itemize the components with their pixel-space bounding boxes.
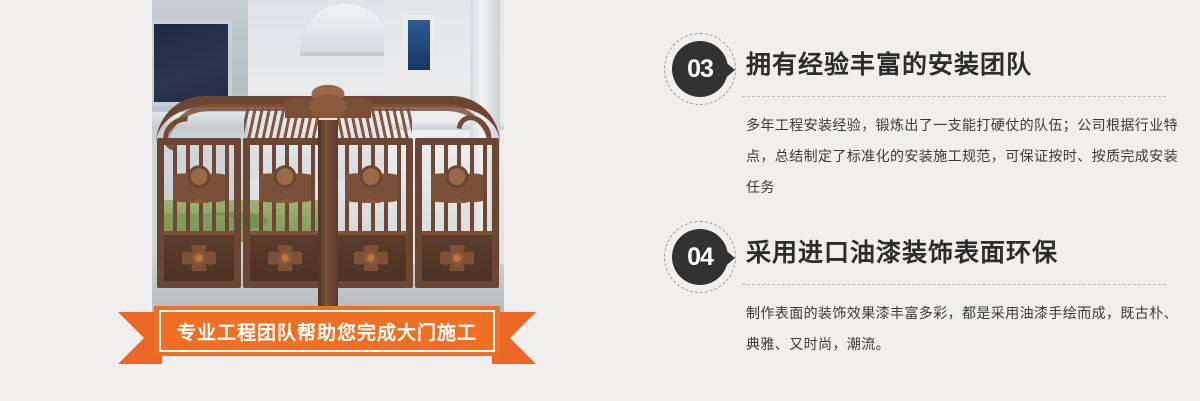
ribbon-band: 专业工程团队帮助您完成大门施工 xyxy=(154,306,500,356)
feature-item-04: 04 采用进口油漆装饰表面环保 制作表面的装饰效果漆丰富多彩，都是采用油漆手绘而… xyxy=(600,218,1200,296)
feature-item-03: 03 拥有经验丰富的安装团队 多年工程安装经验，锻炼出了一支能打硬仗的队伍；公司… xyxy=(600,30,1200,108)
badge-number: 03 xyxy=(672,41,728,97)
leaf-medallion xyxy=(259,163,311,203)
feature-title: 拥有经验丰富的安装团队 xyxy=(746,45,1032,81)
promo-image-column: 专业工程团队帮助您完成大门施工 xyxy=(0,0,600,401)
leaf-panel xyxy=(164,231,234,281)
leaf-medallion xyxy=(345,163,397,203)
gate-center-post xyxy=(318,120,338,312)
feature-title: 采用进口油漆装饰表面环保 xyxy=(746,233,1058,269)
feature-list: 03 拥有经验丰富的安装团队 多年工程安装经验，锻炼出了一支能打硬仗的队伍；公司… xyxy=(600,0,1200,401)
feature-description: 制作表面的装饰效果漆丰富多彩，都是采用油漆手绘而成，既古朴、典雅、又时尚，潮流。 xyxy=(746,298,1178,360)
feature-header: 03 拥有经验丰富的安装团队 xyxy=(600,30,1200,108)
panel-rosette xyxy=(182,245,216,271)
facade-window xyxy=(408,20,430,70)
leaf-panel xyxy=(422,231,492,281)
feature-number-badge: 03 xyxy=(664,33,736,105)
feature-divider xyxy=(742,96,1166,97)
gate-leaf xyxy=(415,138,499,288)
gate-photo xyxy=(152,0,504,312)
facade-arch xyxy=(300,4,390,56)
feature-description: 多年工程安装经验，锻炼出了一支能打硬仗的队伍；公司根据行业特点，总结制定了标准化… xyxy=(746,110,1178,203)
gate-leaf xyxy=(329,138,413,288)
feature-number-badge: 04 xyxy=(664,221,736,293)
panel-rosette xyxy=(440,245,474,271)
gate-leaf xyxy=(243,138,327,288)
leaf-panel xyxy=(336,231,406,281)
ribbon-caption: 专业工程团队帮助您完成大门施工 xyxy=(177,318,477,345)
badge-number: 04 xyxy=(672,229,728,285)
feature-header: 04 采用进口油漆装饰表面环保 xyxy=(600,218,1200,296)
leaf-medallion xyxy=(431,163,483,203)
feature-divider xyxy=(742,284,1166,285)
leaf-medallion xyxy=(173,163,225,203)
crown-finial xyxy=(285,78,371,118)
panel-rosette xyxy=(268,245,302,271)
gate-leaf xyxy=(157,138,241,288)
panel-rosette xyxy=(354,245,388,271)
promo-ribbon: 专业工程团队帮助您完成大门施工 xyxy=(118,312,536,364)
leaf-panel xyxy=(250,231,320,281)
